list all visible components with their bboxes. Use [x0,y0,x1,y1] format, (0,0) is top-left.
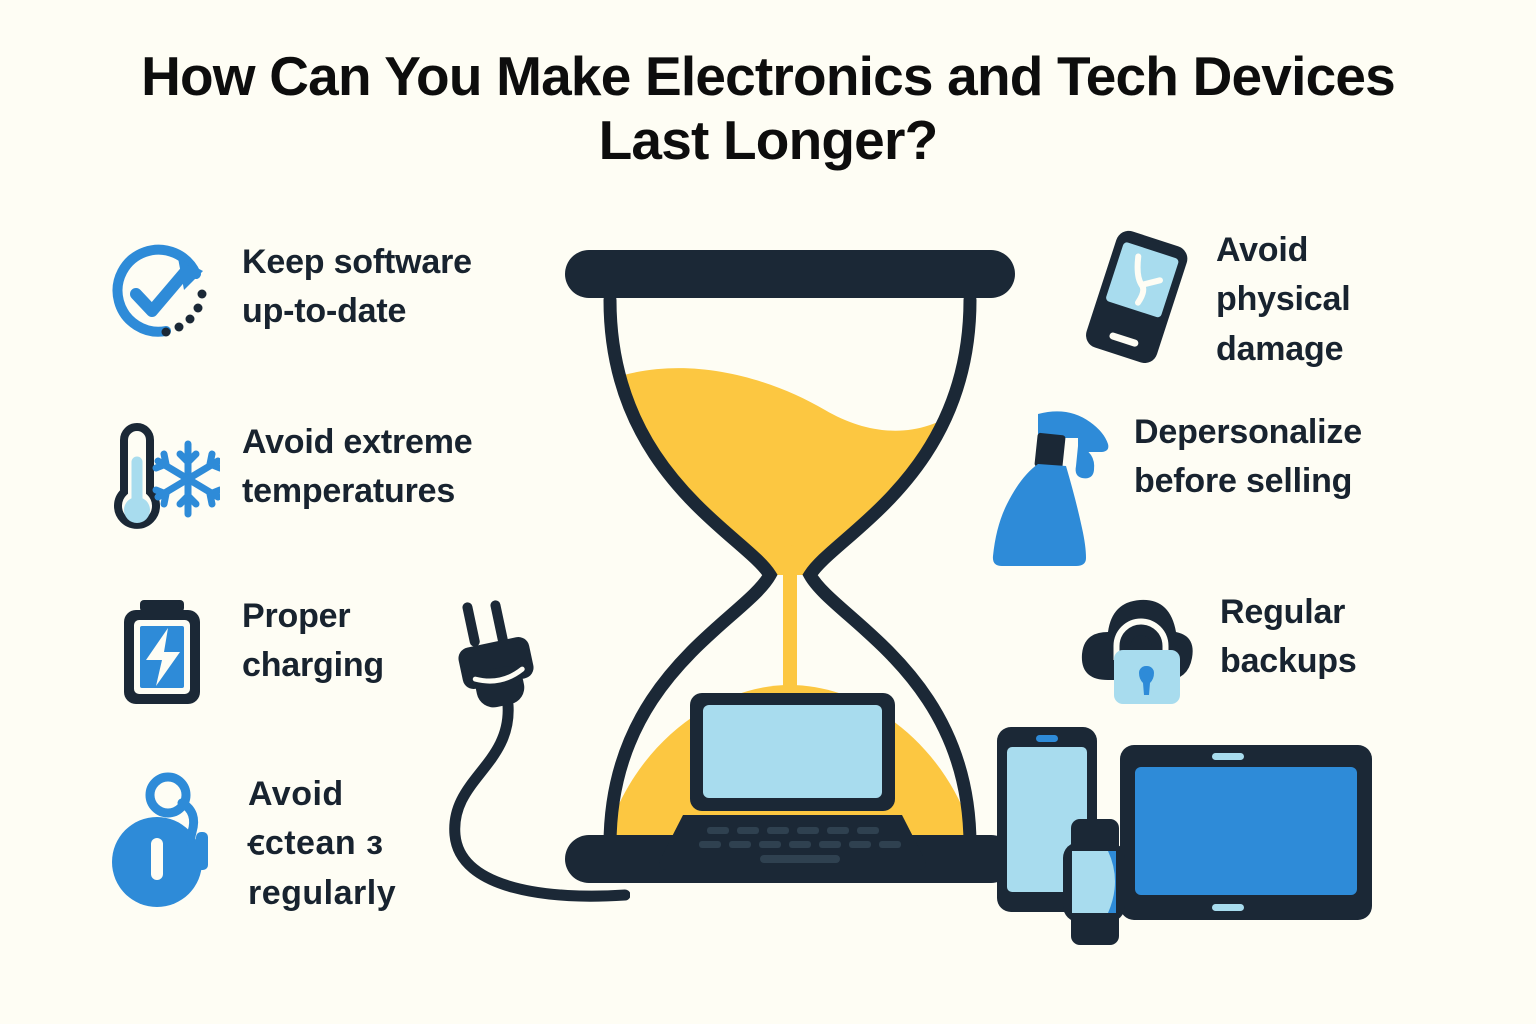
item-regular-backups: Regular backups [1078,588,1357,708]
title-line-2: Last Longer? [46,108,1490,172]
spray-bottle-icon [986,408,1114,568]
laptop-icon [659,693,925,870]
item-label: Regular backups [1220,588,1357,687]
cloud-lock-icon [1078,588,1200,708]
item-depersonalize-before-selling: Depersonalize before selling [986,408,1362,568]
item-label: Keep software up-to-date [242,238,472,337]
device-cluster [975,715,1385,945]
title-line-1: How Can You Make Electronics and Tech De… [141,45,1395,107]
thermometer-icon [118,427,156,525]
refresh-checkmark-icon [104,238,220,348]
item-avoid-physical-damage: Avoid physical damage [1078,226,1350,374]
snowflake-icon [156,444,220,514]
power-plug-cable-icon [440,590,630,920]
item-label: Avoid extreme temperatures [242,418,472,517]
item-avoid-clean-regularly: Avoid ꞓctean ɜ regularly [100,770,396,918]
hourglass-top-cap [565,250,1015,298]
battery-charging-icon [104,592,220,710]
item-label: Depersonalize before selling [1134,408,1362,507]
infographic-canvas: How Can You Make Electronics and Tech De… [0,0,1536,1024]
page-title: How Can You Make Electronics and Tech De… [0,44,1536,173]
power-cable [455,705,625,896]
item-keep-software-up-to-date: Keep software up-to-date [104,238,472,348]
tablet-icon [1120,745,1372,920]
thermometer-snowflake-icon [104,418,220,536]
plug-head [456,599,535,710]
item-label: Avoid physical damage [1216,226,1350,374]
smartwatch-icon [1063,819,1125,945]
item-proper-charging: Proper charging [104,592,384,710]
cracked-phone-icon [1078,226,1196,366]
item-label: Proper charging [242,592,384,691]
item-avoid-extreme-temperatures: Avoid extreme temperatures [104,418,472,536]
cleaning-tool-icon [100,770,226,910]
item-label: Avoid ꞓctean ɜ regularly [248,770,396,918]
